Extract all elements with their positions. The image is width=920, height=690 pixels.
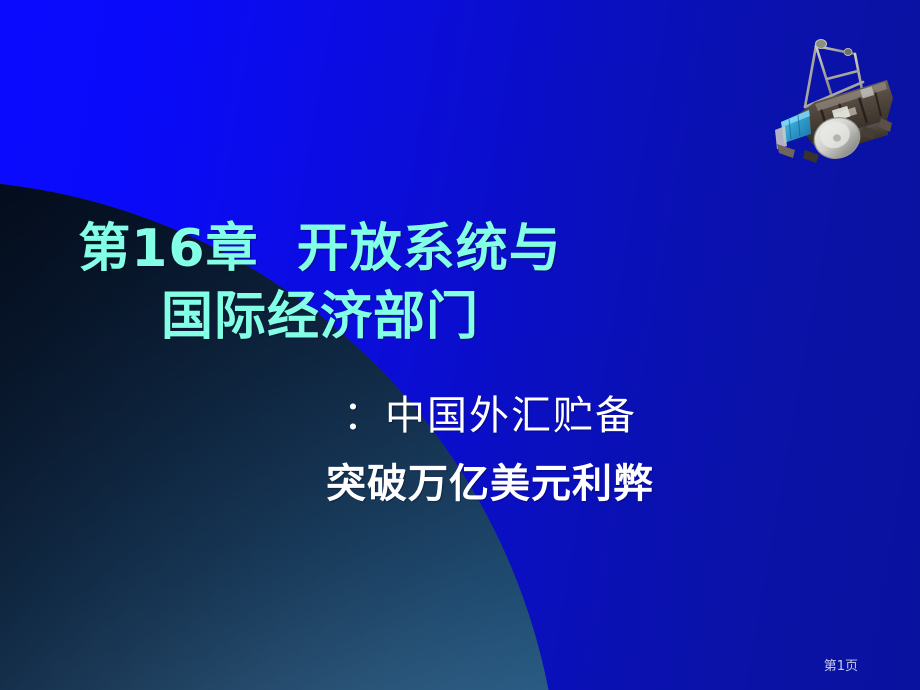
subtitle-line-1: ：中国外汇贮备: [120, 382, 860, 450]
satellite-icon: [775, 22, 900, 167]
title-line-1: 第16章 开放系统与: [0, 215, 640, 283]
presentation-slide: 第16章 开放系统与 国际经济部门 ：中国外汇贮备 突破万亿美元利弊 第1页: [0, 0, 920, 690]
subtitle-line-2: 突破万亿美元利弊: [120, 450, 860, 518]
title-line-2: 国际经济部门: [0, 283, 640, 351]
page-number-label: 第1页: [824, 655, 858, 674]
slide-subtitle: ：中国外汇贮备 突破万亿美元利弊: [120, 382, 860, 518]
slide-title: 第16章 开放系统与 国际经济部门: [0, 215, 640, 351]
